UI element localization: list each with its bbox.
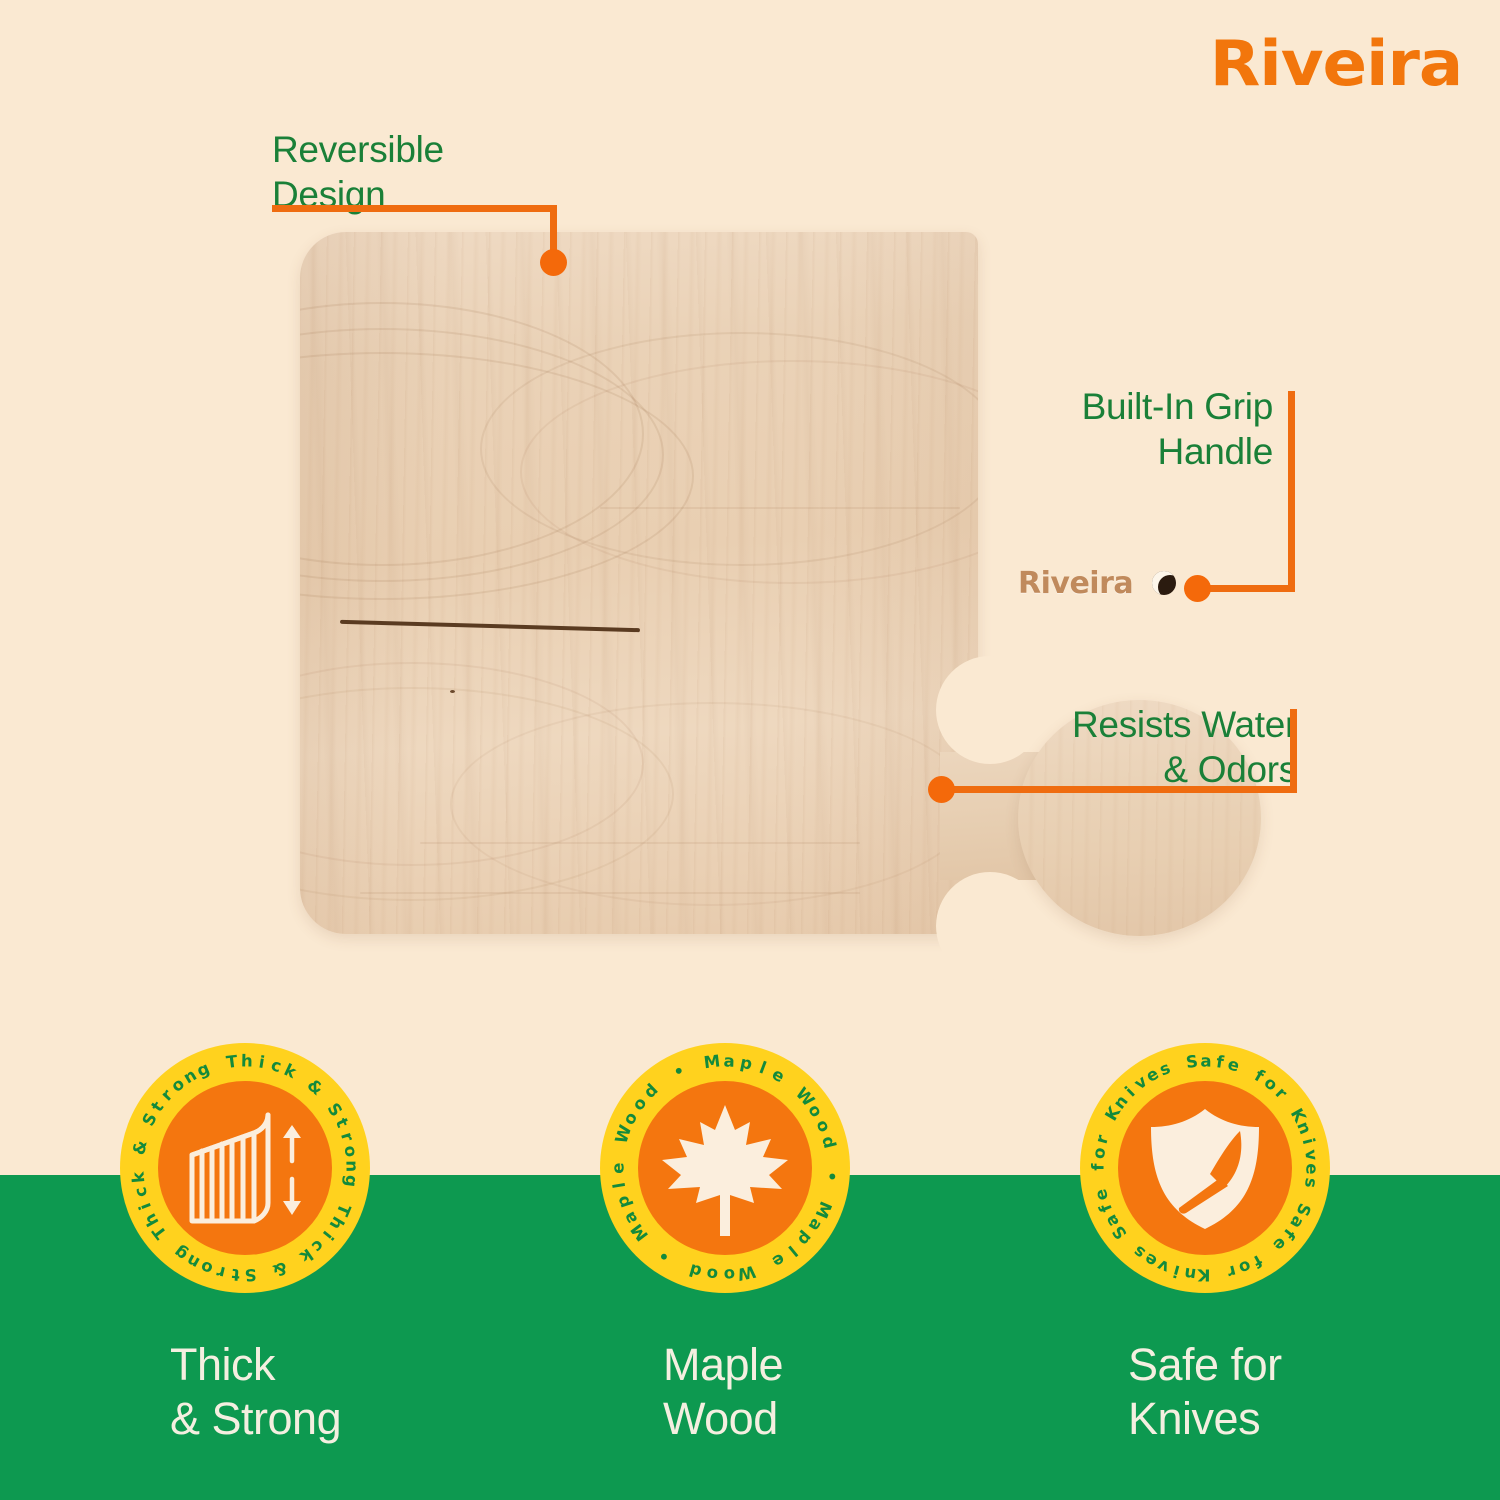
leader-dot-reversible (540, 249, 567, 276)
badge-safe-for-knives: Safe for Knives Safe for Knives Safe for… (1080, 1043, 1330, 1293)
badge-maple-wood: Maple Wood • Maple Wood • Maple Wood • (600, 1043, 850, 1293)
badge-thick-and-strong: Thick & Strong Thick & Strong Thick & St… (120, 1043, 370, 1293)
wood-grain-line (600, 507, 960, 509)
board-thickness-icon (158, 1081, 332, 1255)
badge-label-thick-and-strong: Thick & Strong (170, 1338, 341, 1446)
wood-knot (450, 690, 455, 693)
leader-line-water-vertical (1290, 709, 1297, 791)
leader-dot-handle (1184, 575, 1211, 602)
callout-label-reversible-design: Reversible Design (272, 127, 444, 217)
shield-knife-icon (1118, 1081, 1292, 1255)
wood-grain-line (420, 842, 860, 844)
handle-notch-bottom (936, 872, 1044, 980)
hanging-hole (1152, 571, 1176, 595)
infographic-canvas: Riveira Riveira Reversible Design (0, 0, 1500, 1500)
wood-grain-arc (450, 702, 974, 906)
leader-line-reversible-horizontal (272, 205, 557, 212)
badge-label-maple-wood: Maple Wood (663, 1338, 783, 1446)
wood-grain-line (360, 892, 860, 894)
leader-line-water-horizontal (940, 786, 1297, 793)
leader-line-handle-vertical (1288, 391, 1295, 588)
maple-leaf-icon (638, 1081, 812, 1255)
wood-crack-mark (340, 620, 640, 632)
board-surface (300, 232, 978, 934)
callout-label-grip-handle: Built-In Grip Handle (920, 384, 1273, 474)
leader-dot-water (928, 776, 955, 803)
badge-label-safe-for-knives: Safe for Knives (1128, 1338, 1282, 1446)
brand-logo: Riveira (1210, 27, 1462, 100)
callout-label-resists-water: Resists Water & Odors (910, 702, 1297, 792)
engraved-brand-logo: Riveira (1018, 566, 1133, 601)
